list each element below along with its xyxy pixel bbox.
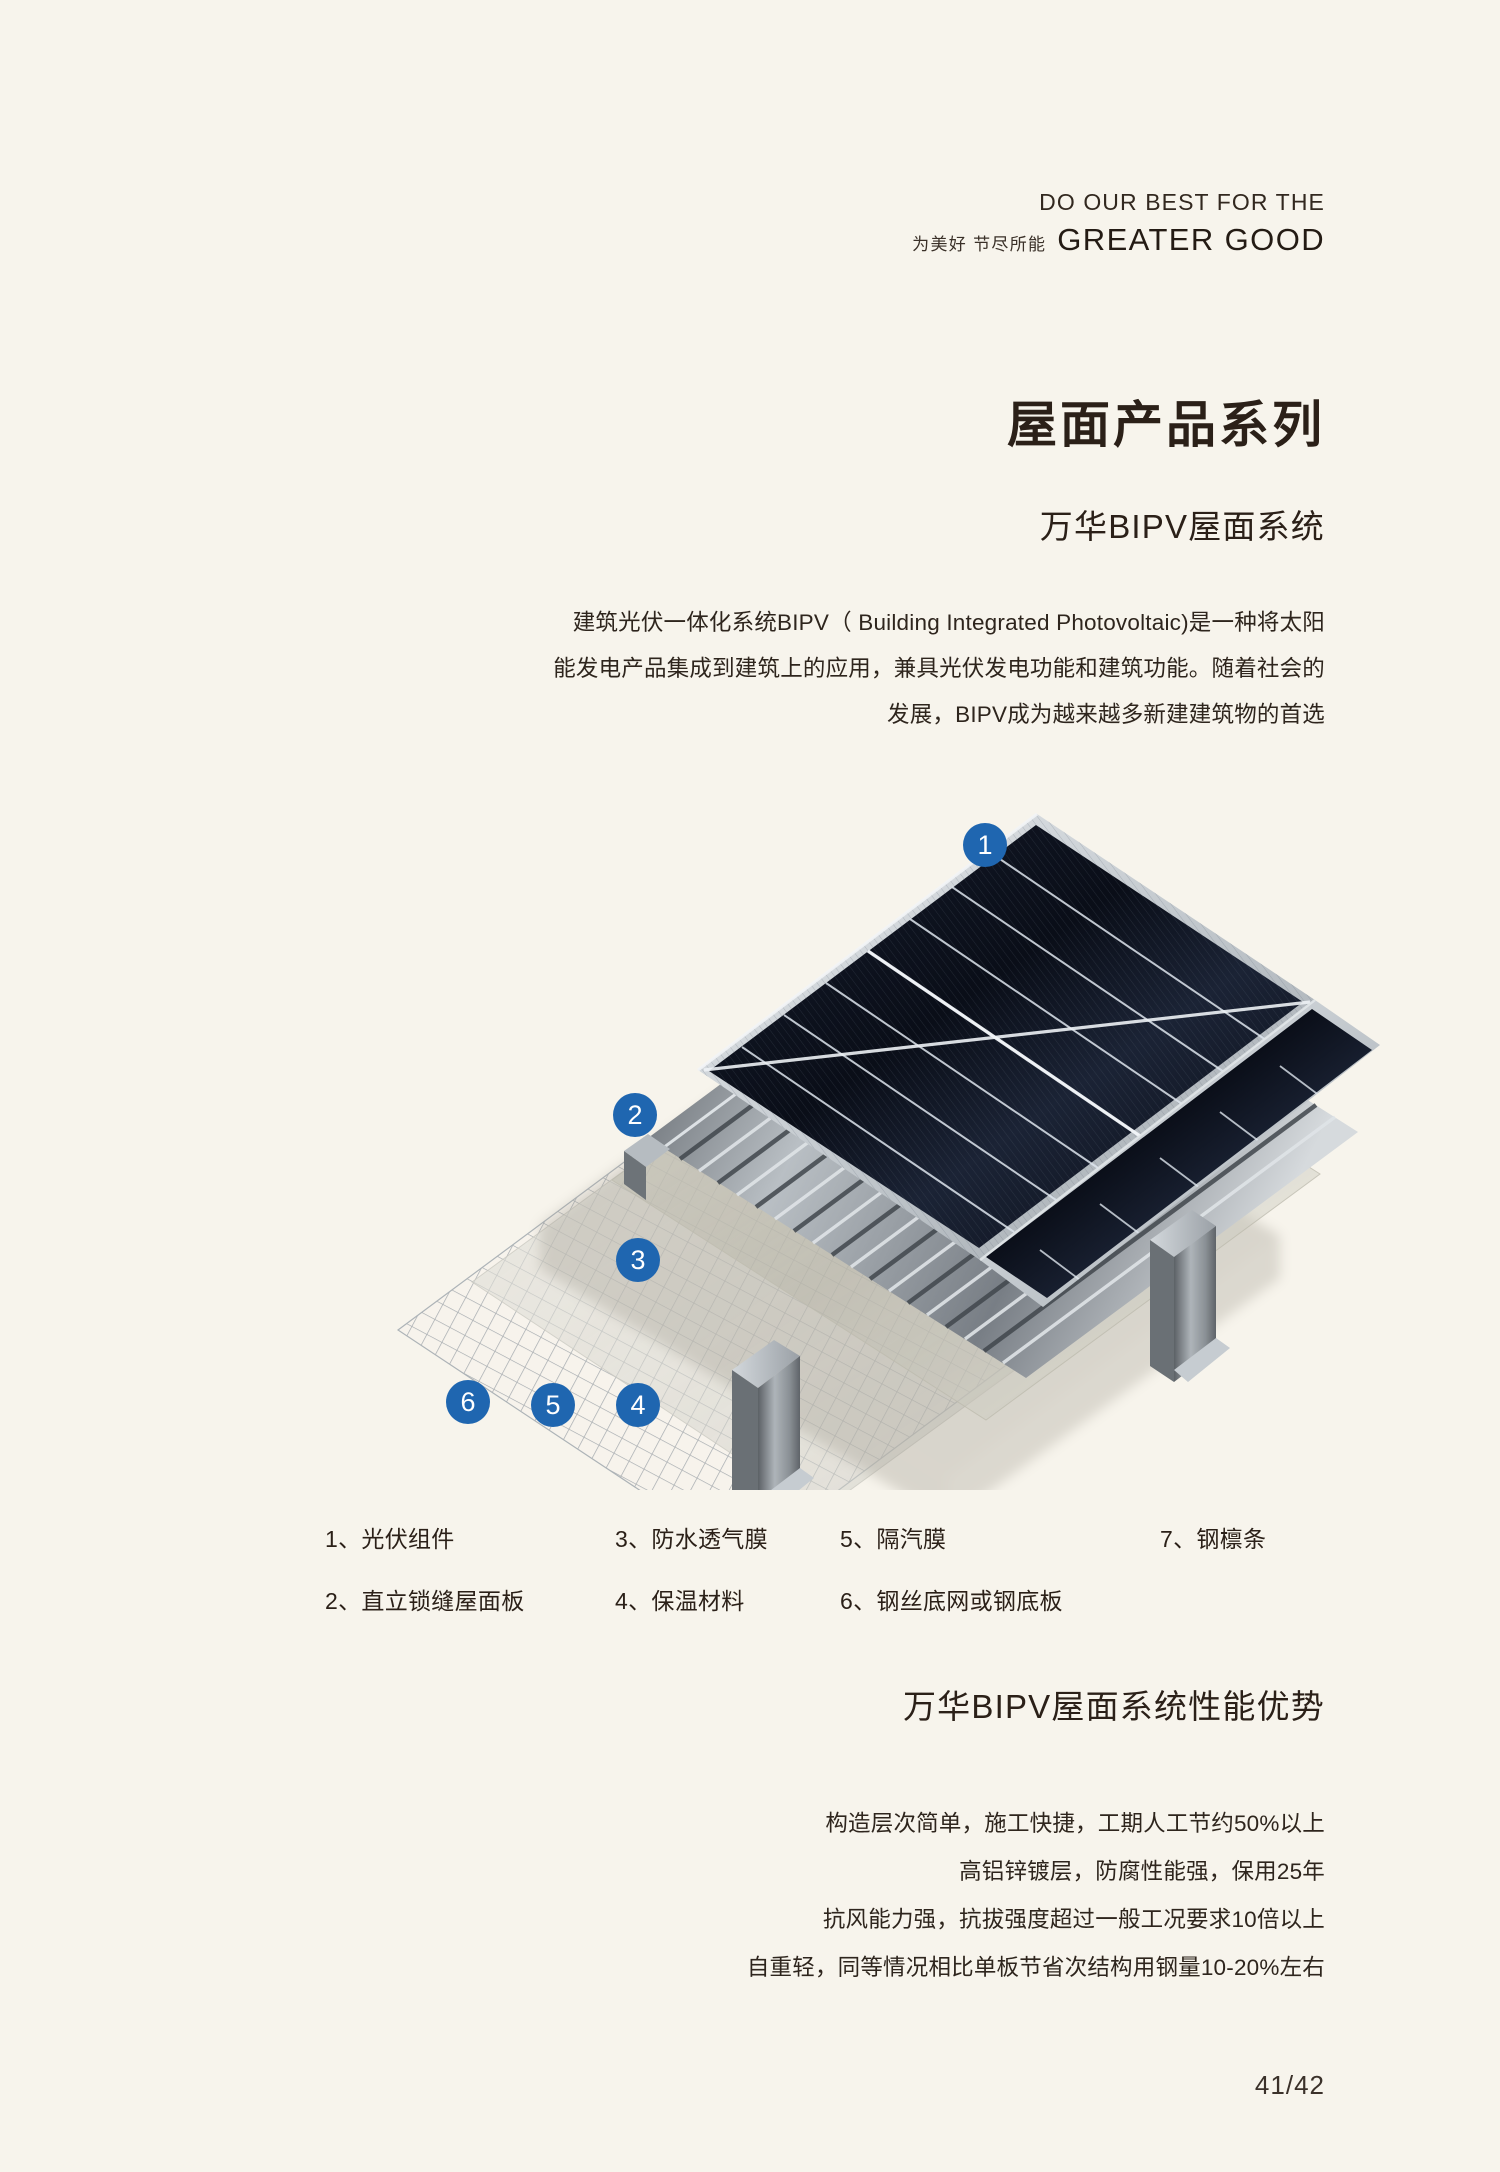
page-number: 41/42 <box>1255 2070 1325 2101</box>
callout-3-label: 3 <box>630 1245 645 1275</box>
bipv-roof-diagram: 1 2 3 4 5 <box>380 770 1380 1490</box>
legend-item-7: 7、钢檩条 <box>1160 1520 1325 1554</box>
legend-row-1: 1、光伏组件 3、防水透气膜 5、隔汽膜 7、钢檩条 <box>325 1520 1325 1554</box>
callout-3[interactable]: 3 <box>616 1238 660 1282</box>
advantage-item-4: 自重轻，同等情况相比单板节省次结构用钢量10-20%左右 <box>465 1944 1325 1992</box>
diagram-legend: 1、光伏组件 3、防水透气膜 5、隔汽膜 7、钢檩条 2、直立锁缝屋面板 4、保… <box>325 1520 1325 1644</box>
callout-6-label: 6 <box>460 1387 475 1417</box>
brand-tagline-top: DO OUR BEST FOR THE <box>912 190 1325 216</box>
legend-item-4: 4、保温材料 <box>615 1582 840 1616</box>
brand-tagline-chinese: 为美好 节尽所能 <box>912 235 1046 254</box>
page-subtitle: 万华BIPV屋面系统 <box>1040 500 1325 548</box>
callout-6[interactable]: 6 <box>446 1380 490 1424</box>
legend-item-2: 2、直立锁缝屋面板 <box>325 1582 615 1616</box>
intro-paragraph: 建筑光伏一体化系统BIPV（ Building Integrated Photo… <box>485 600 1325 738</box>
advantage-item-1: 构造层次简单，施工快捷，工期人工节约50%以上 <box>465 1800 1325 1848</box>
advantages-title: 万华BIPV屋面系统性能优势 <box>903 1680 1325 1728</box>
legend-row-2: 2、直立锁缝屋面板 4、保温材料 6、钢丝底网或钢底板 <box>325 1582 1325 1616</box>
legend-item-6: 6、钢丝底网或钢底板 <box>840 1582 1160 1616</box>
legend-item-3: 3、防水透气膜 <box>615 1520 840 1554</box>
callout-4-label: 4 <box>630 1390 645 1420</box>
page-title: 屋面产品系列 <box>1007 385 1325 457</box>
callout-5-label: 5 <box>545 1390 560 1420</box>
bipv-roof-diagram-svg: 1 2 3 4 5 <box>380 770 1380 1490</box>
callout-1[interactable]: 1 <box>963 823 1007 867</box>
advantage-item-3: 抗风能力强，抗拔强度超过一般工况要求10倍以上 <box>465 1896 1325 1944</box>
advantage-item-2: 高铝锌镀层，防腐性能强，保用25年 <box>465 1848 1325 1896</box>
intro-line-1: 建筑光伏一体化系统BIPV（ Building Integrated Photo… <box>485 600 1325 646</box>
callout-5[interactable]: 5 <box>531 1383 575 1427</box>
callout-1-label: 1 <box>977 830 992 860</box>
callout-2-label: 2 <box>627 1100 642 1130</box>
intro-line-3: 发展，BIPV成为越来越多新建建筑物的首选 <box>485 692 1325 738</box>
brochure-page: DO OUR BEST FOR THE 为美好 节尽所能 GREATER GOO… <box>0 0 1500 2172</box>
brand-header: DO OUR BEST FOR THE 为美好 节尽所能 GREATER GOO… <box>912 190 1325 257</box>
legend-item-5: 5、隔汽膜 <box>840 1520 1160 1554</box>
callout-4[interactable]: 4 <box>616 1383 660 1427</box>
brand-tagline-greater-good: GREATER GOOD <box>1057 223 1325 258</box>
brand-tagline-bottom-row: 为美好 节尽所能 GREATER GOOD <box>912 223 1325 258</box>
intro-line-2: 能发电产品集成到建筑上的应用，兼具光伏发电功能和建筑功能。随着社会的 <box>485 646 1325 692</box>
callout-2[interactable]: 2 <box>613 1093 657 1137</box>
advantages-list: 构造层次简单，施工快捷，工期人工节约50%以上 高铝锌镀层，防腐性能强，保用25… <box>465 1800 1325 1992</box>
legend-item-1: 1、光伏组件 <box>325 1520 615 1554</box>
